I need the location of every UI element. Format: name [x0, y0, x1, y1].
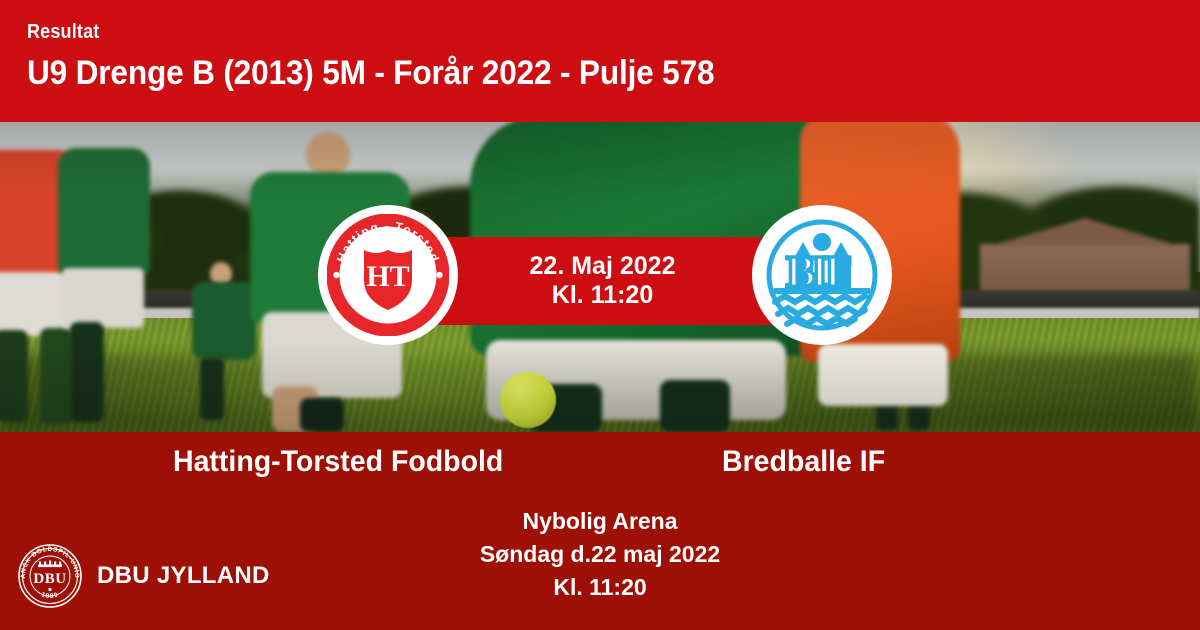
home-team-logo: Hatting - Torsted FODBOLD HT — [318, 205, 458, 345]
header-bar: Resultat U9 Drenge B (2013) 5M - Forår 2… — [0, 0, 1200, 122]
hatting-torsted-crest-icon: Hatting - Torsted FODBOLD HT — [327, 214, 449, 336]
dbu-seal-icon: DANSK BOLDSPIL-UNION 1889 DBU — [16, 542, 84, 610]
svg-text:DBU: DBU — [33, 571, 66, 587]
svg-text:HT: HT — [366, 260, 409, 293]
match-time: Kl. 11:20 — [552, 281, 653, 311]
svg-text:1889: 1889 — [40, 591, 59, 600]
match-result-card: Resultat U9 Drenge B (2013) 5M - Forår 2… — [0, 0, 1200, 630]
header-kicker: Resultat — [27, 22, 1083, 42]
venue-name: Nybolig Arena — [0, 505, 1200, 538]
page-title: U9 Drenge B (2013) 5M - Forår 2022 - Pul… — [27, 56, 1118, 90]
home-team-name: Hatting-Torsted Fodbold — [173, 445, 503, 479]
match-date: 22. Maj 2022 — [530, 252, 676, 282]
away-team-logo: B I F — [752, 205, 892, 345]
away-team-name: Bredballe IF — [722, 445, 885, 479]
dbu-organisation-label: DBU JYLLAND — [97, 562, 270, 590]
dbu-branding: DANSK BOLDSPIL-UNION 1889 DBU DBU JYLLAN… — [16, 542, 270, 610]
match-datetime-banner: 22. Maj 2022 Kl. 11:20 — [430, 237, 775, 325]
bredballe-if-crest-icon: B I F — [763, 216, 881, 334]
